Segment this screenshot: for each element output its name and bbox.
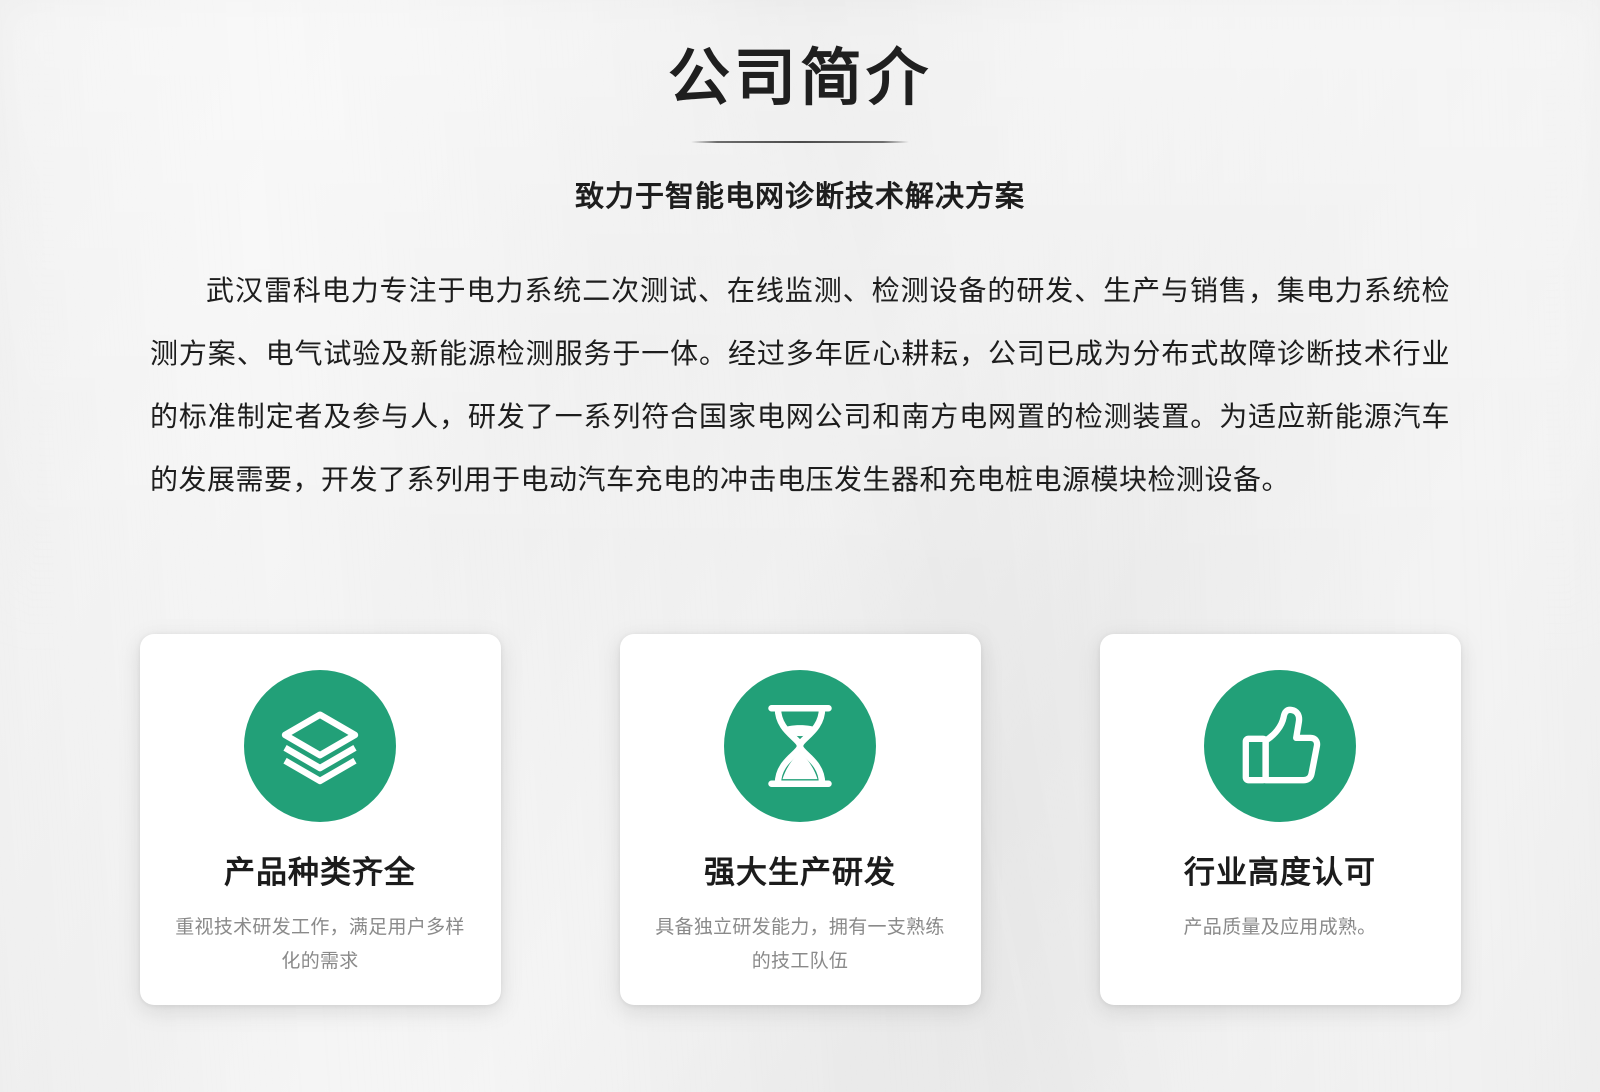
page-subtitle: 致力于智能电网诊断技术解决方案 [0,173,1600,215]
feature-card-title: 行业高度认可 [1184,854,1376,891]
thumbs-up-icon [1204,670,1356,822]
layers-icon [244,670,396,822]
feature-card-list: 产品种类齐全 重视技术研发工作，满足用户多样化的需求 [0,634,1600,1005]
section-header: 公司简介 致力于智能电网诊断技术解决方案 [0,0,1600,215]
feature-card-title: 产品种类齐全 [224,854,416,891]
title-divider [691,141,909,143]
hourglass-icon [724,670,876,822]
feature-card-desc: 具备独立研发能力，拥有一支熟练的技工队伍 [655,911,945,979]
company-profile-page: 公司简介 致力于智能电网诊断技术解决方案 武汉雷科电力专注于电力系统二次测试、在… [0,0,1600,1092]
feature-card[interactable]: 强大生产研发 具备独立研发能力，拥有一支熟练的技工队伍 [620,634,981,1005]
feature-card-title: 强大生产研发 [704,854,896,891]
page-title: 公司简介 [0,44,1600,113]
company-intro-paragraph: 武汉雷科电力专注于电力系统二次测试、在线监测、检测设备的研发、生产与销售，集电力… [150,259,1450,511]
feature-card[interactable]: 行业高度认可 产品质量及应用成熟。 [1100,634,1461,1005]
feature-card[interactable]: 产品种类齐全 重视技术研发工作，满足用户多样化的需求 [140,634,501,1005]
feature-card-desc: 产品质量及应用成熟。 [1135,911,1425,945]
page-content: 公司简介 致力于智能电网诊断技术解决方案 武汉雷科电力专注于电力系统二次测试、在… [0,0,1600,511]
feature-card-desc: 重视技术研发工作，满足用户多样化的需求 [175,911,465,979]
